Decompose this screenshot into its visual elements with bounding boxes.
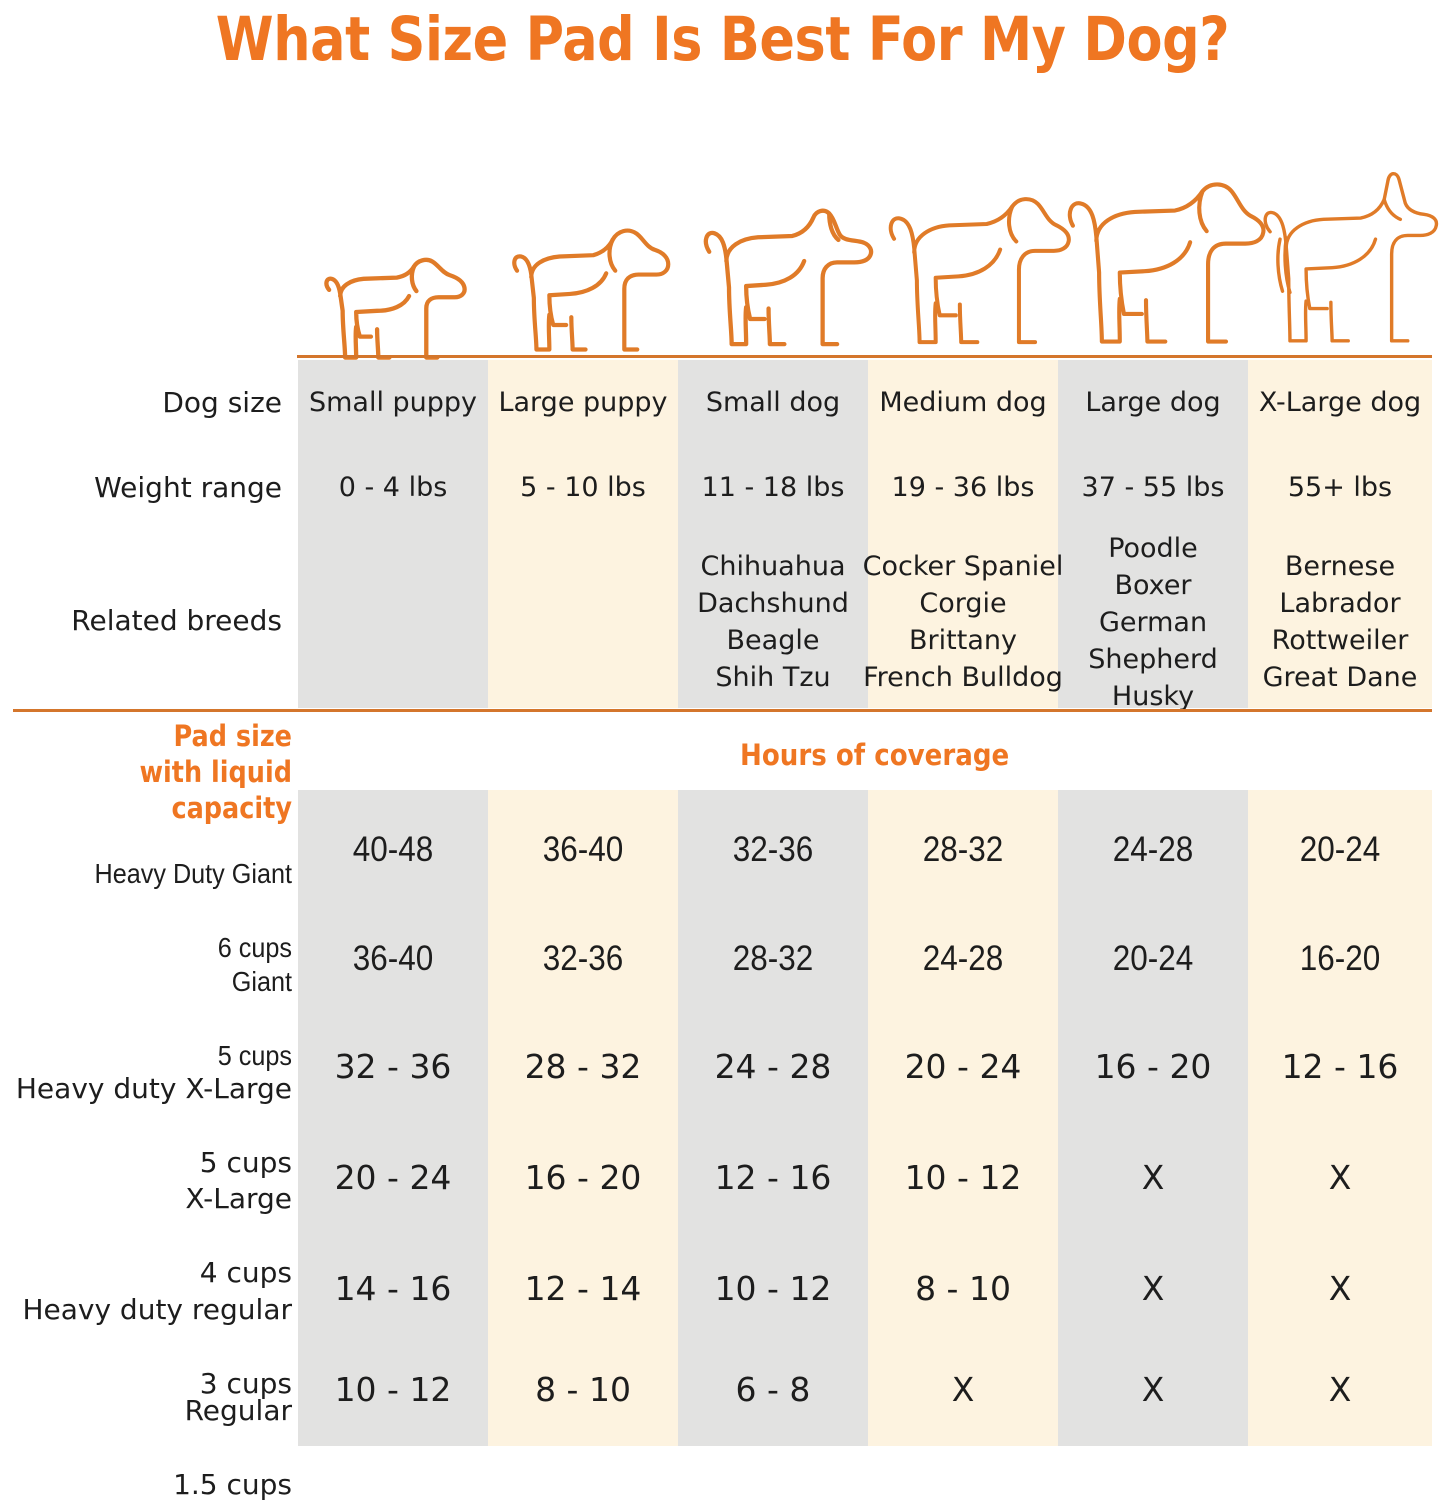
cell-weight-range-5: 37 - 55 lbs xyxy=(1058,469,1248,506)
cell-hours-r3c1: 32 - 36 xyxy=(298,1048,488,1085)
cell-hours-r2c4: 24-28 xyxy=(878,940,1049,977)
cell-hours-r1c2: 36-40 xyxy=(498,831,669,868)
cell-related-breeds-3: Chihuahua Dachshund Beagle Shih Tzu xyxy=(678,548,868,696)
cell-hours-r6c1: 10 - 12 xyxy=(298,1371,488,1408)
cell-weight-range-4: 19 - 36 lbs xyxy=(868,469,1058,506)
cell-hours-r1c4: 28-32 xyxy=(878,831,1049,868)
section-divider-rule xyxy=(13,709,1432,712)
stripe-bottom-medium-dog xyxy=(868,790,1058,1446)
cell-hours-r1c5: 24-28 xyxy=(1068,831,1239,868)
page-title: What Size Pad Is Best For My Dog? xyxy=(101,4,1344,75)
stripe-bottom-large-puppy xyxy=(488,790,678,1446)
cell-dog-size-5: Large dog xyxy=(1058,384,1248,421)
cell-hours-r2c5: 20-24 xyxy=(1068,940,1239,977)
cell-dog-size-3: Small dog xyxy=(678,384,868,421)
dog-silhouette-large-puppy xyxy=(508,215,668,360)
cell-hours-r3c4: 20 - 24 xyxy=(868,1048,1058,1085)
dog-silhouette-medium-dog xyxy=(886,182,1071,360)
pad-size-header: Pad size with liquid capacity xyxy=(35,718,292,826)
cell-hours-r1c3: 32-36 xyxy=(688,831,859,868)
cell-hours-r5c6: X xyxy=(1248,1270,1432,1307)
dog-silhouette-small-dog xyxy=(700,195,875,360)
stripe-bottom-small-dog xyxy=(678,790,868,1446)
cell-hours-r4c5: X xyxy=(1058,1159,1248,1196)
cell-hours-r6c2: 8 - 10 xyxy=(488,1371,678,1408)
dogs-baseline-rule xyxy=(297,355,1432,358)
cell-hours-r4c2: 16 - 20 xyxy=(488,1159,678,1196)
cell-hours-r4c6: X xyxy=(1248,1159,1432,1196)
row-label-dog-size: Dog size xyxy=(0,384,282,421)
cell-hours-r3c3: 24 - 28 xyxy=(678,1048,868,1085)
cell-related-breeds-4: Cocker Spaniel Corgie Brittany French Bu… xyxy=(862,548,1064,696)
cell-hours-r2c3: 28-32 xyxy=(688,940,859,977)
cell-dog-size-4: Medium dog xyxy=(868,384,1058,421)
cell-hours-r3c6: 12 - 16 xyxy=(1248,1048,1432,1085)
dog-silhouette-large-dog xyxy=(1066,170,1264,360)
cell-hours-r4c1: 20 - 24 xyxy=(298,1159,488,1196)
cell-hours-r6c4: X xyxy=(868,1371,1058,1408)
cell-hours-r1c1: 40-48 xyxy=(308,831,479,868)
cell-weight-range-6: 55+ lbs xyxy=(1248,469,1432,506)
row-label-related-breeds: Related breeds xyxy=(0,602,282,639)
row-label-weight-range: Weight range xyxy=(0,469,282,506)
cell-hours-r1c6: 20-24 xyxy=(1257,831,1423,868)
pad-name-heavy-duty-giant: Heavy Duty Giant xyxy=(95,858,292,889)
cell-hours-r3c5: 16 - 20 xyxy=(1058,1048,1248,1085)
cell-hours-r2c1: 36-40 xyxy=(308,940,479,977)
cell-hours-r4c4: 10 - 12 xyxy=(868,1159,1058,1196)
dog-silhouette-row xyxy=(0,150,1445,360)
pad-capacity-regular: 1.5 cups xyxy=(173,1468,292,1501)
cell-hours-r6c5: X xyxy=(1058,1371,1248,1408)
cell-hours-r2c2: 32-36 xyxy=(498,940,669,977)
stripe-bottom-large-dog xyxy=(1058,790,1248,1446)
pad-name-giant: Giant xyxy=(232,966,292,997)
cell-dog-size-6: X-Large dog xyxy=(1248,384,1432,421)
dog-silhouette-xlarge-dog xyxy=(1254,153,1436,360)
pad-row-label-regular: Regular 1.5 cups xyxy=(0,1355,292,1503)
cell-hours-r4c3: 12 - 16 xyxy=(678,1159,868,1196)
cell-hours-r6c6: X xyxy=(1248,1371,1432,1408)
cell-dog-size-2: Large puppy xyxy=(488,384,678,421)
cell-dog-size-1: Small puppy xyxy=(298,384,488,421)
dog-silhouette-small-puppy xyxy=(318,237,478,360)
cell-hours-r5c4: 8 - 10 xyxy=(868,1270,1058,1307)
cell-hours-r5c1: 14 - 16 xyxy=(298,1270,488,1307)
cell-hours-r5c2: 12 - 14 xyxy=(488,1270,678,1307)
cell-weight-range-3: 11 - 18 lbs xyxy=(678,469,868,506)
cell-hours-r5c5: X xyxy=(1058,1270,1248,1307)
pad-name-heavy-duty-xlarge: Heavy duty X-Large xyxy=(16,1072,292,1105)
hours-of-coverage-header: Hours of coverage xyxy=(740,738,1009,772)
cell-weight-range-2: 5 - 10 lbs xyxy=(488,469,678,506)
cell-hours-r6c3: 6 - 8 xyxy=(678,1371,868,1408)
stripe-bottom-small-puppy xyxy=(298,790,488,1446)
cell-related-breeds-5: Poodle Boxer German Shepherd Husky xyxy=(1058,530,1248,715)
cell-related-breeds-6: Bernese Labrador Rottweiler Great Dane xyxy=(1248,548,1432,696)
cell-hours-r2c6: 16-20 xyxy=(1257,940,1423,977)
pad-name-heavy-duty-regular: Heavy duty regular xyxy=(22,1293,292,1326)
pad-name-regular: Regular xyxy=(185,1394,292,1427)
pad-name-xlarge: X-Large xyxy=(185,1182,292,1215)
cell-weight-range-1: 0 - 4 lbs xyxy=(298,469,488,506)
cell-hours-r5c3: 10 - 12 xyxy=(678,1270,868,1307)
stripe-bottom-xlarge-dog xyxy=(1248,790,1432,1446)
cell-hours-r3c2: 28 - 32 xyxy=(488,1048,678,1085)
